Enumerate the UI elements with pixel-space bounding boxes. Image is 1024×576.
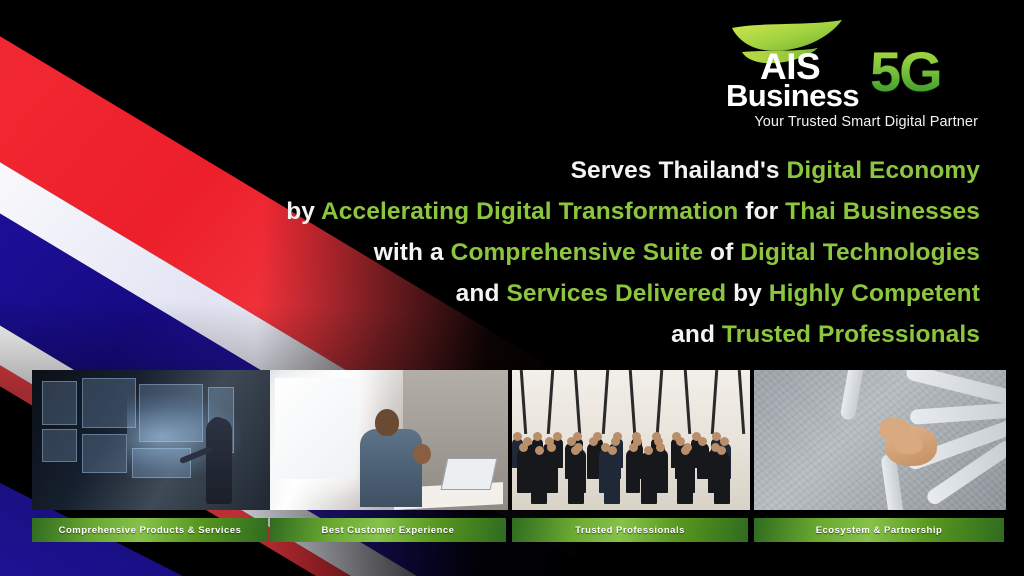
photo-detail xyxy=(513,432,522,441)
headline-text: with a xyxy=(374,239,451,266)
headline-highlight: Digital Economy xyxy=(787,157,980,184)
photo-detail xyxy=(641,452,657,504)
headline-line-3: with a Comprehensive Suite of Digital Te… xyxy=(280,232,980,273)
photo-detail xyxy=(683,370,690,434)
photo-detail xyxy=(714,452,730,504)
photo-detail xyxy=(656,370,663,434)
photo-detail xyxy=(587,443,599,479)
photo-detail xyxy=(629,443,638,452)
feature-caption-bar: Ecosystem & Partnership xyxy=(754,518,1004,542)
photo-detail xyxy=(677,452,693,504)
photo-detail xyxy=(681,446,690,455)
headline-block: Serves Thailand's Digital Economyby Acce… xyxy=(280,150,980,355)
feature-card-trusted-professionals[interactable]: Trusted Professionals xyxy=(512,370,750,542)
feature-caption-bar: Trusted Professionals xyxy=(512,518,748,542)
feature-card-best-customer-experience[interactable]: Best Customer Experience xyxy=(270,370,508,542)
photo-detail xyxy=(553,432,562,441)
photo-detail xyxy=(533,432,542,441)
headline-line-2: by Accelerating Digital Transformation f… xyxy=(280,191,980,232)
headline-highlight: Services Delivered xyxy=(506,280,726,307)
headline-text: of xyxy=(703,239,740,266)
feature-caption-text: Ecosystem & Partnership xyxy=(816,525,943,536)
photo-detail xyxy=(589,437,598,446)
feature-caption-bar: Best Customer Experience xyxy=(270,518,506,542)
photo-detail xyxy=(626,449,640,493)
headline-highlight: Highly Competent xyxy=(769,280,980,307)
photo-detail xyxy=(547,370,554,434)
photo-detail xyxy=(608,446,617,455)
photo-detail xyxy=(547,443,556,452)
feature-photo-data-wall xyxy=(32,370,270,510)
logo-badge-5g: 5G xyxy=(870,44,941,100)
photo-detail xyxy=(568,452,584,504)
logo-text-business: Business xyxy=(726,80,859,111)
headline-highlight: Thai Businesses xyxy=(785,198,980,225)
photo-detail xyxy=(519,370,526,434)
photo-detail xyxy=(574,370,581,434)
headline-highlight: Accelerating Digital Transformation xyxy=(321,198,738,225)
headline-text: Serves Thailand's xyxy=(571,157,787,184)
feature-caption-text: Comprehensive Products & Services xyxy=(59,525,242,536)
photo-detail xyxy=(611,437,620,446)
ais-business-5g-logo: AIS Business 5G Your Trusted Smart Digit… xyxy=(728,22,978,108)
photo-detail xyxy=(711,370,718,434)
photo-detail xyxy=(738,370,745,434)
feature-photo-team-group xyxy=(512,370,750,510)
photo-detail xyxy=(697,443,709,479)
feature-caption-bar: Comprehensive Products & Services xyxy=(32,518,268,542)
presentation-slide: AIS Business 5G Your Trusted Smart Digit… xyxy=(0,0,1024,576)
feature-photo-hands-teamwork xyxy=(754,370,1006,510)
headline-line-1: Serves Thailand's Digital Economy xyxy=(280,150,980,191)
feature-card-ecosystem-partnership[interactable]: Ecosystem & Partnership xyxy=(754,370,1006,542)
photo-detail xyxy=(535,446,544,455)
logo-tagline: Your Trusted Smart Digital Partner xyxy=(754,114,978,130)
feature-card-comprehensive-products-services[interactable]: Comprehensive Products & Services xyxy=(32,370,270,542)
headline-line-4: and Services Delivered by Highly Compete… xyxy=(280,273,980,314)
photo-detail xyxy=(604,452,620,504)
headline-line-5: and Trusted Professionals xyxy=(280,314,980,355)
headline-highlight: Digital Technologies xyxy=(740,239,980,266)
headline-text: for xyxy=(738,198,785,225)
photo-detail xyxy=(531,452,547,504)
headline-highlight: Trusted Professionals xyxy=(722,321,980,348)
headline-text: by xyxy=(726,280,769,307)
feature-caption-text: Trusted Professionals xyxy=(575,525,685,536)
headline-highlight: Comprehensive Suite xyxy=(451,239,703,266)
headline-text: and xyxy=(671,321,722,348)
feature-photo-customer-call xyxy=(270,370,508,510)
feature-caption-text: Best Customer Experience xyxy=(322,525,455,536)
headline-text: and xyxy=(456,280,507,307)
headline-text: by xyxy=(286,198,321,225)
photo-detail xyxy=(601,370,608,434)
photo-detail xyxy=(629,370,636,434)
photo-detail xyxy=(517,449,531,493)
feature-card-strip: Comprehensive Products & Services Best C… xyxy=(0,370,1024,556)
